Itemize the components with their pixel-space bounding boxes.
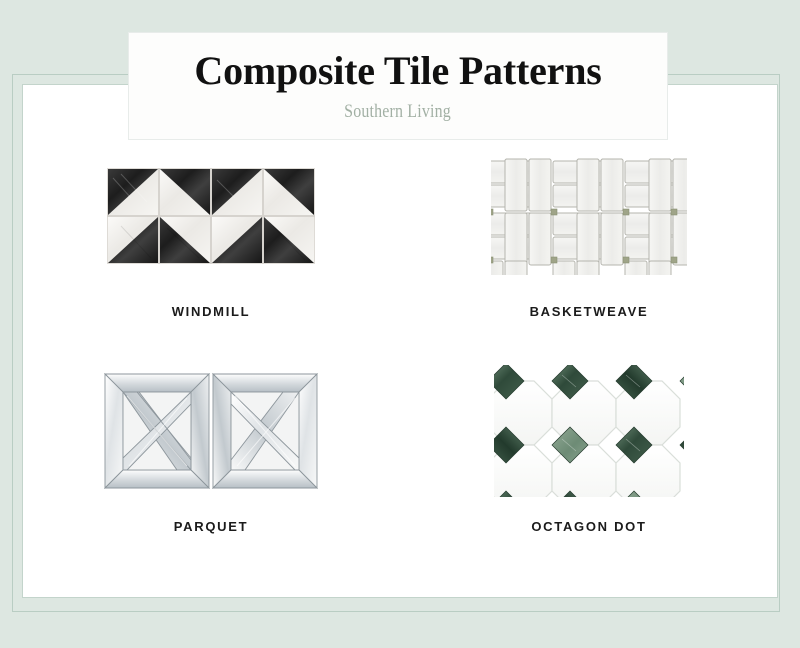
caption-octagon-dot: OCTAGON DOT (531, 519, 646, 534)
caption-parquet: PARQUET (174, 519, 249, 534)
caption-windmill: WINDMILL (172, 304, 251, 319)
title-card: Composite Tile Patterns Southern Living (128, 32, 668, 140)
octagon-dot-illustration (494, 365, 684, 497)
basketweave-illustration (491, 157, 687, 275)
parquet-illustration (103, 372, 319, 490)
brand-subtitle: Southern Living (345, 102, 452, 121)
pattern-cell-parquet: PARQUET (22, 365, 400, 580)
pattern-grid: WINDMILL (22, 150, 778, 580)
caption-basketweave: BASKETWEAVE (530, 304, 649, 319)
windmill-illustration (107, 168, 315, 264)
page-title: Composite Tile Patterns (194, 51, 601, 91)
basketweave-swatch (491, 150, 687, 282)
pattern-cell-octagon-dot: OCTAGON DOT (400, 365, 778, 580)
pattern-cell-windmill: WINDMILL (22, 150, 400, 365)
poster-canvas: Composite Tile Patterns Southern Living (0, 0, 800, 648)
octagon-dot-swatch (494, 365, 684, 497)
windmill-swatch (107, 150, 315, 282)
pattern-cell-basketweave: BASKETWEAVE (400, 150, 778, 365)
parquet-swatch (103, 365, 319, 497)
